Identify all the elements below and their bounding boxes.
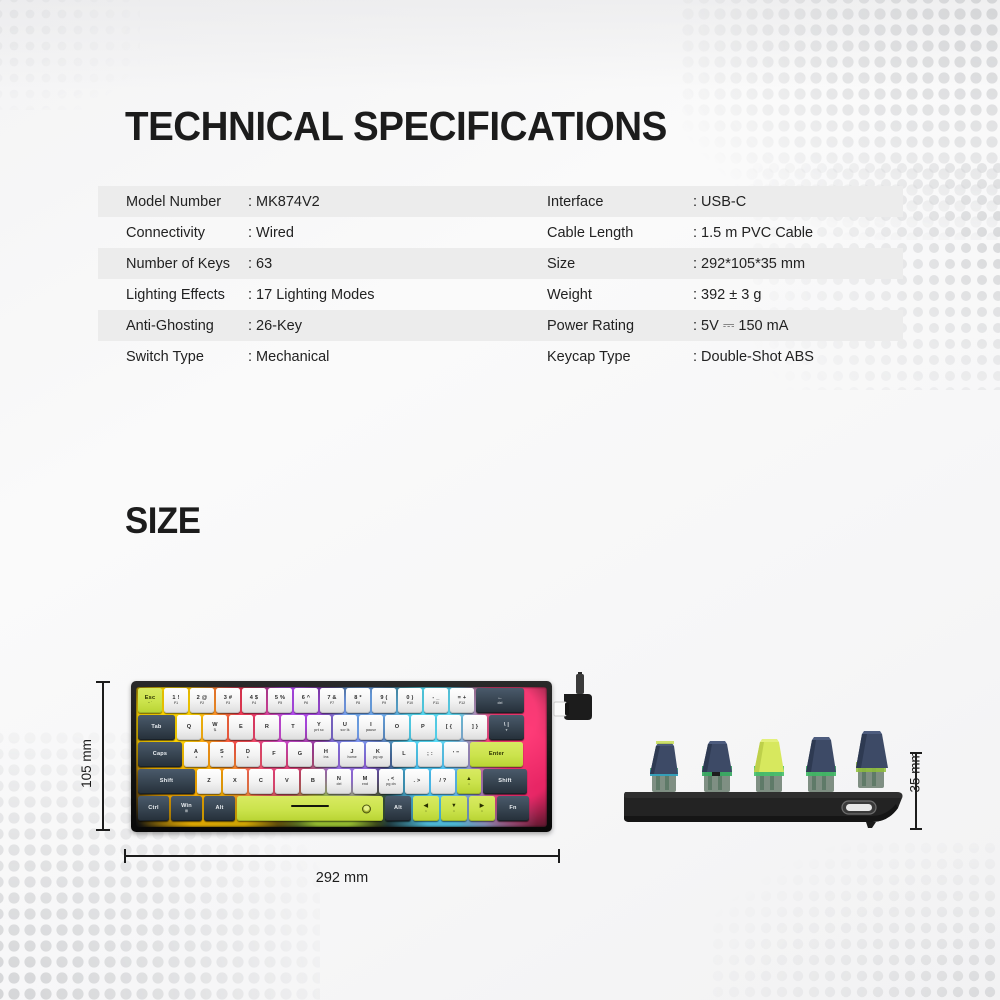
key-sublegend: ☼ bbox=[467, 783, 470, 787]
dimension-label-width: 292 mm bbox=[124, 870, 560, 886]
key-legend: Alt bbox=[394, 805, 402, 811]
spec-row: Lighting Effects: 17 Lighting ModesWeigh… bbox=[98, 279, 903, 310]
key-legend: ] } bbox=[472, 724, 478, 730]
dimension-line-width bbox=[124, 849, 560, 863]
spec-cell-group: Switch Type: Mechanical bbox=[98, 341, 538, 372]
key-sublegend: F3 bbox=[226, 702, 230, 706]
key-key[interactable]: ◀☼ bbox=[413, 796, 439, 821]
key-legend: X bbox=[233, 778, 237, 784]
key-u[interactable]: Uscr lk bbox=[333, 715, 357, 740]
key-space[interactable] bbox=[237, 796, 383, 821]
key-sublegend: ▾ bbox=[221, 756, 223, 760]
spec-cell-group: Size: 292*105*35 mm bbox=[538, 248, 903, 279]
spec-label: Lighting Effects bbox=[98, 287, 248, 303]
key-legend: Fn bbox=[509, 805, 516, 811]
key-8[interactable]: 8 *F8 bbox=[346, 688, 370, 713]
key-b[interactable]: B bbox=[301, 769, 325, 794]
usb-c-port-icon bbox=[842, 801, 876, 814]
key-legend: T bbox=[291, 724, 295, 730]
key-shift[interactable]: Shift bbox=[483, 769, 527, 794]
spec-value: : 292*105*35 mm bbox=[693, 256, 805, 272]
halftone-dots-top-left bbox=[0, 0, 140, 110]
key-sublegend: pg up bbox=[373, 756, 383, 760]
key-legend: ' " bbox=[453, 751, 459, 757]
spec-cell-group: Keycap Type: Double-Shot ABS bbox=[538, 341, 903, 372]
key-legend: Ctrl bbox=[148, 805, 158, 811]
dimension-label-height: 105 mm bbox=[79, 739, 94, 788]
page-title-technical-specifications: TECHNICAL SPECIFICATIONS bbox=[125, 103, 667, 150]
spec-value: : 5V ⎓ 150 mA bbox=[693, 318, 788, 334]
key-9[interactable]: 9 (F9 bbox=[372, 688, 396, 713]
key-sublegend: del bbox=[497, 702, 502, 706]
key-legend: Z bbox=[207, 778, 211, 784]
key-sublegend: F12 bbox=[459, 702, 465, 706]
key-key[interactable]: . > bbox=[405, 769, 429, 794]
key-y[interactable]: Yprt sc bbox=[307, 715, 331, 740]
key-key[interactable]: ▼☼ bbox=[441, 796, 467, 821]
key-e[interactable]: E bbox=[229, 715, 253, 740]
key-key[interactable]: ▲☼ bbox=[457, 769, 481, 794]
key-sublegend: F8 bbox=[356, 702, 360, 706]
key-d[interactable]: D▸ bbox=[236, 742, 260, 767]
key-alt[interactable]: Alt bbox=[385, 796, 411, 821]
keyboard-plate: Esc~ `1 !F12 @F23 #F34 $F45 %F56 ^F67 &F… bbox=[136, 687, 547, 827]
key-j[interactable]: Jhome bbox=[340, 742, 364, 767]
key-7[interactable]: 7 &F7 bbox=[320, 688, 344, 713]
key-f[interactable]: F bbox=[262, 742, 286, 767]
key-legend: B bbox=[311, 778, 315, 784]
key-fn[interactable]: Fn bbox=[497, 796, 529, 821]
side-view-keycaps bbox=[650, 731, 888, 774]
key-caps[interactable]: Caps bbox=[138, 742, 182, 767]
key-p[interactable]: P bbox=[411, 715, 435, 740]
top-gradient-overlay bbox=[0, 0, 1000, 90]
key-key[interactable]: ▶☼ bbox=[469, 796, 495, 821]
key-c[interactable]: C bbox=[249, 769, 273, 794]
spec-label: Connectivity bbox=[98, 225, 248, 241]
key-n[interactable]: Ndel bbox=[327, 769, 351, 794]
key-i[interactable]: Ipause bbox=[359, 715, 383, 740]
spec-row: Model Number: MK874V2Interface: USB-C bbox=[98, 186, 903, 217]
key-sublegend: ~ ` bbox=[148, 702, 152, 706]
spec-value: : 1.5 m PVC Cable bbox=[693, 225, 813, 241]
key-sublegend: ◂ bbox=[195, 756, 197, 760]
spec-label: Keycap Type bbox=[538, 349, 693, 365]
key-ctrl[interactable]: Ctrl bbox=[138, 796, 169, 821]
key-key[interactable]: ; : bbox=[418, 742, 442, 767]
key-z[interactable]: Z bbox=[197, 769, 221, 794]
key-w[interactable]: W⇅ bbox=[203, 715, 227, 740]
keyboard-side-view bbox=[620, 718, 910, 833]
key-sublegend: F9 bbox=[382, 702, 386, 706]
key-legend: L bbox=[402, 751, 406, 757]
keyboard-row: Esc~ `1 !F12 @F23 #F34 $F45 %F56 ^F67 &F… bbox=[136, 688, 526, 713]
key-o[interactable]: O bbox=[385, 715, 409, 740]
key-legend: Q bbox=[187, 724, 192, 730]
spec-value: : 63 bbox=[248, 256, 272, 272]
spec-value: : Mechanical bbox=[248, 349, 329, 365]
key-sublegend: home bbox=[347, 756, 356, 760]
spec-label: Weight bbox=[538, 287, 693, 303]
key-shift[interactable]: Shift bbox=[138, 769, 195, 794]
spec-cell-group: Weight: 392 ± 3 g bbox=[538, 279, 903, 310]
key-sublegend: scr lk bbox=[340, 729, 349, 733]
keyboard-top-view: Esc~ `1 !F12 @F23 #F34 $F45 %F56 ^F67 &F… bbox=[131, 681, 552, 832]
spec-cell-group: Power Rating: 5V ⎓ 150 mA bbox=[538, 310, 903, 341]
key-g[interactable]: G bbox=[288, 742, 312, 767]
spec-value: : Double-Shot ABS bbox=[693, 349, 814, 365]
key-q[interactable]: Q bbox=[177, 715, 201, 740]
key-sublegend: ins bbox=[323, 756, 328, 760]
brand-logo-icon bbox=[362, 804, 371, 813]
key-sublegend: F6 bbox=[304, 702, 308, 706]
key-legend: ; : bbox=[427, 751, 433, 757]
key-key[interactable]: ' " bbox=[444, 742, 468, 767]
dimension-line-height bbox=[96, 681, 110, 831]
key-legend: Enter bbox=[489, 751, 504, 757]
key-key[interactable]: , <pg dn bbox=[379, 769, 403, 794]
key-3[interactable]: 3 #F3 bbox=[216, 688, 240, 713]
key-sublegend: ⇅ bbox=[214, 729, 217, 733]
spec-cell-group: Anti-Ghosting: 26-Key bbox=[98, 310, 538, 341]
key-sublegend: F7 bbox=[330, 702, 334, 706]
key-key[interactable]: \ |▾ bbox=[489, 715, 524, 740]
key-r[interactable]: R bbox=[255, 715, 279, 740]
key-legend: O bbox=[395, 724, 400, 730]
key-enter[interactable]: Enter bbox=[470, 742, 523, 767]
spec-label: Size bbox=[538, 256, 693, 272]
key-sublegend: F11 bbox=[433, 702, 439, 706]
spec-row: Anti-Ghosting: 26-KeyPower Rating: 5V ⎓ … bbox=[98, 310, 903, 341]
product-spec-page: TECHNICAL SPECIFICATIONS SIZE Model Numb… bbox=[0, 0, 1000, 1000]
spec-label: Switch Type bbox=[98, 349, 248, 365]
key-sublegend: pause bbox=[366, 729, 376, 733]
key-k[interactable]: Kpg up bbox=[366, 742, 390, 767]
key-sublegend: F1 bbox=[174, 702, 178, 706]
keyboard-row: ShiftZXCVBNdelMend, <pg dn. >/ ?▲☼Shift bbox=[136, 769, 529, 794]
key-sublegend: del bbox=[336, 783, 341, 787]
spec-cell-group: Model Number: MK874V2 bbox=[98, 186, 538, 217]
spec-value: : 17 Lighting Modes bbox=[248, 287, 375, 303]
key-legend: C bbox=[259, 778, 263, 784]
spec-label: Number of Keys bbox=[98, 256, 248, 272]
key-key[interactable]: ←del bbox=[476, 688, 524, 713]
key-6[interactable]: 6 ^F6 bbox=[294, 688, 318, 713]
key-alt[interactable]: Alt bbox=[204, 796, 235, 821]
key-win[interactable]: Win⊞ bbox=[171, 796, 202, 821]
spec-value: : 26-Key bbox=[248, 318, 302, 334]
key-legend: Tab bbox=[151, 724, 161, 730]
key-4[interactable]: 4 $F4 bbox=[242, 688, 266, 713]
space-bar-marker bbox=[291, 805, 329, 807]
key-key[interactable]: / ? bbox=[431, 769, 455, 794]
key-sublegend: ☼ bbox=[452, 810, 455, 814]
spec-value: : 392 ± 3 g bbox=[693, 287, 761, 303]
keyboard-row: CtrlWin⊞AltAlt◀☼▼☼▶☼Fn bbox=[136, 796, 531, 821]
spec-row: Switch Type: MechanicalKeycap Type: Doub… bbox=[98, 341, 903, 372]
key-a[interactable]: A◂ bbox=[184, 742, 208, 767]
spec-value: : Wired bbox=[248, 225, 294, 241]
key-key[interactable]: ] } bbox=[463, 715, 487, 740]
key-legend: F bbox=[272, 751, 276, 757]
key-h[interactable]: Hins bbox=[314, 742, 338, 767]
key-legend: G bbox=[298, 751, 303, 757]
key-sublegend: F2 bbox=[200, 702, 204, 706]
specifications-table: Model Number: MK874V2Interface: USB-CCon… bbox=[98, 186, 903, 372]
key-sublegend: ☼ bbox=[480, 810, 483, 814]
spec-cell-group: Cable Length: 1.5 m PVC Cable bbox=[538, 217, 903, 248]
spec-cell-group: Number of Keys: 63 bbox=[98, 248, 538, 279]
spec-cell-group: Lighting Effects: 17 Lighting Modes bbox=[98, 279, 538, 310]
key-sublegend: end bbox=[362, 783, 368, 787]
key-legend: R bbox=[265, 724, 269, 730]
halftone-dots-bottom-right bbox=[710, 840, 1000, 1000]
key-key[interactable]: - _F11 bbox=[424, 688, 448, 713]
spec-row: Connectivity: WiredCable Length: 1.5 m P… bbox=[98, 217, 903, 248]
dimension-label-depth: 35 mm bbox=[908, 751, 923, 792]
key-sublegend: ▾ bbox=[506, 729, 508, 733]
key-legend: Shift bbox=[498, 778, 511, 784]
spec-label: Power Rating bbox=[538, 318, 693, 334]
key-5[interactable]: 5 %F5 bbox=[268, 688, 292, 713]
key-sublegend: prt sc bbox=[314, 729, 324, 733]
key-key[interactable]: = +F12 bbox=[450, 688, 474, 713]
spec-cell-group: Interface: USB-C bbox=[538, 186, 903, 217]
key-sublegend: F5 bbox=[278, 702, 282, 706]
spec-label: Interface bbox=[538, 194, 693, 210]
key-sublegend: ▸ bbox=[247, 756, 249, 760]
key-s[interactable]: S▾ bbox=[210, 742, 234, 767]
spec-label: Model Number bbox=[98, 194, 248, 210]
key-key[interactable]: [ { bbox=[437, 715, 461, 740]
spec-row: Number of Keys: 63Size: 292*105*35 mm bbox=[98, 248, 903, 279]
key-legend: / ? bbox=[439, 778, 446, 784]
key-l[interactable]: L bbox=[392, 742, 416, 767]
key-v[interactable]: V bbox=[275, 769, 299, 794]
key-1[interactable]: 1 !F1 bbox=[164, 688, 188, 713]
key-sublegend: ⊞ bbox=[185, 810, 188, 814]
keyboard-row: CapsA◂S▾D▸FGHinsJhomeKpg upL; :' "Enter bbox=[136, 742, 525, 767]
key-legend: Shift bbox=[160, 778, 173, 784]
key-sublegend: pg dn bbox=[386, 783, 396, 787]
spec-label: Anti-Ghosting bbox=[98, 318, 248, 334]
key-esc[interactable]: Esc~ ` bbox=[138, 688, 162, 713]
key-x[interactable]: X bbox=[223, 769, 247, 794]
key-legend: E bbox=[239, 724, 243, 730]
usb-c-plug-icon bbox=[552, 672, 598, 730]
key-legend: V bbox=[285, 778, 289, 784]
spec-value: : USB-C bbox=[693, 194, 746, 210]
key-legend: Caps bbox=[153, 751, 167, 757]
keyboard-row: TabQW⇅ERTYprt scUscr lkIpauseOP[ {] }\ |… bbox=[136, 715, 526, 740]
key-m[interactable]: Mend bbox=[353, 769, 377, 794]
key-legend: [ { bbox=[446, 724, 452, 730]
key-legend: P bbox=[421, 724, 425, 730]
key-t[interactable]: T bbox=[281, 715, 305, 740]
key-2[interactable]: 2 @F2 bbox=[190, 688, 214, 713]
spec-cell-group: Connectivity: Wired bbox=[98, 217, 538, 248]
section-title-size: SIZE bbox=[125, 500, 200, 542]
key-0[interactable]: 0 )F10 bbox=[398, 688, 422, 713]
key-sublegend: F4 bbox=[252, 702, 256, 706]
spec-label: Cable Length bbox=[538, 225, 693, 241]
spec-value: : MK874V2 bbox=[248, 194, 320, 210]
key-sublegend: F10 bbox=[407, 702, 413, 706]
key-legend: . > bbox=[414, 778, 421, 784]
key-legend: Alt bbox=[215, 805, 223, 811]
key-tab[interactable]: Tab bbox=[138, 715, 175, 740]
key-sublegend: ☼ bbox=[424, 810, 427, 814]
